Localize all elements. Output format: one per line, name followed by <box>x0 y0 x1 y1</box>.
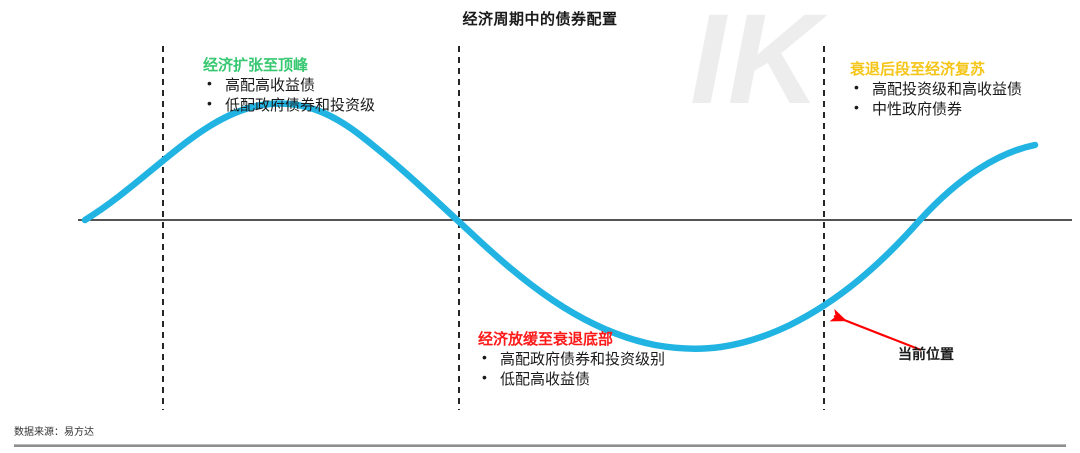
annotation-expansion-bullets: 高配高收益债 低配政府债券和投资级 <box>203 76 375 115</box>
list-item: 高配高收益债 <box>203 76 375 95</box>
footer-divider <box>14 444 1066 447</box>
list-item: 低配高收益债 <box>478 370 665 389</box>
annotation-expansion-heading: 经济扩张至顶峰 <box>203 56 375 75</box>
current-position-label: 当前位置 <box>898 344 954 364</box>
cycle-curve <box>85 104 1035 349</box>
list-item: 高配投资级和高收益债 <box>850 80 1022 99</box>
list-item: 低配政府债券和投资级 <box>203 96 375 115</box>
annotation-slowdown-heading: 经济放缓至衰退底部 <box>478 330 665 349</box>
annotation-slowdown: 经济放缓至衰退底部 高配政府债券和投资级别 低配高收益债 <box>478 330 665 390</box>
slide-canvas: IK 经济周期中的债券配置 经济扩张至顶峰 高配高收益债 低配政府债券和投资级 … <box>0 0 1080 453</box>
annotation-recovery: 衰退后段至经济复苏 高配投资级和高收益债 中性政府债券 <box>850 60 1022 120</box>
annotation-recovery-heading: 衰退后段至经济复苏 <box>850 60 1022 79</box>
list-item: 高配政府债券和投资级别 <box>478 350 665 369</box>
annotation-recovery-bullets: 高配投资级和高收益债 中性政府债券 <box>850 80 1022 119</box>
list-item: 中性政府债券 <box>850 100 1022 119</box>
annotation-slowdown-bullets: 高配政府债券和投资级别 低配高收益债 <box>478 350 665 389</box>
annotation-expansion: 经济扩张至顶峰 高配高收益债 低配政府债券和投资级 <box>203 56 375 116</box>
source-note: 数据来源：易方达 <box>14 423 94 438</box>
